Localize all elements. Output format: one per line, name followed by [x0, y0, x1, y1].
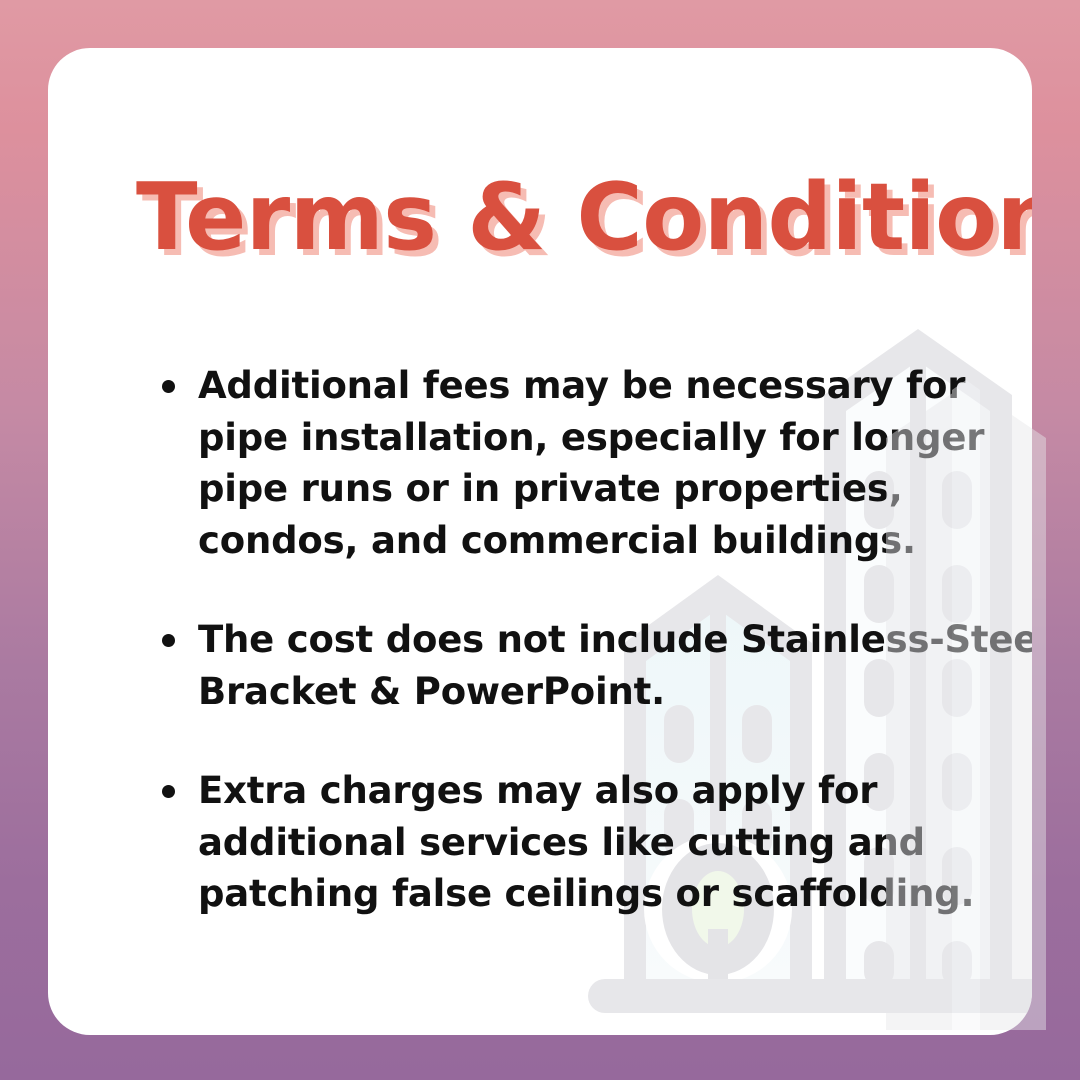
bullet-dot-icon — [162, 634, 175, 647]
list-item: Additional fees may be necessary for pip… — [156, 360, 1032, 566]
page-title: Terms & Conditions: — [136, 168, 1032, 267]
list-item-text: The cost does not include Stainless-Stee… — [198, 618, 1032, 713]
list-item: The cost does not include Stainless-Stee… — [156, 614, 1032, 717]
poster-canvas: Terms & Conditions: Additional fees may … — [0, 0, 1080, 1080]
list-item-text: Additional fees may be necessary for pip… — [198, 364, 984, 562]
list-item-text: Extra charges may also apply for additio… — [198, 769, 974, 915]
content-card: Terms & Conditions: Additional fees may … — [48, 48, 1032, 1035]
title-block: Terms & Conditions: — [136, 168, 1032, 267]
bullet-dot-icon — [162, 785, 175, 798]
list-item: Extra charges may also apply for additio… — [156, 765, 1032, 920]
bullet-dot-icon — [162, 380, 175, 393]
terms-list: Additional fees may be necessary for pip… — [156, 360, 1032, 920]
ground-bar — [588, 979, 1032, 1013]
